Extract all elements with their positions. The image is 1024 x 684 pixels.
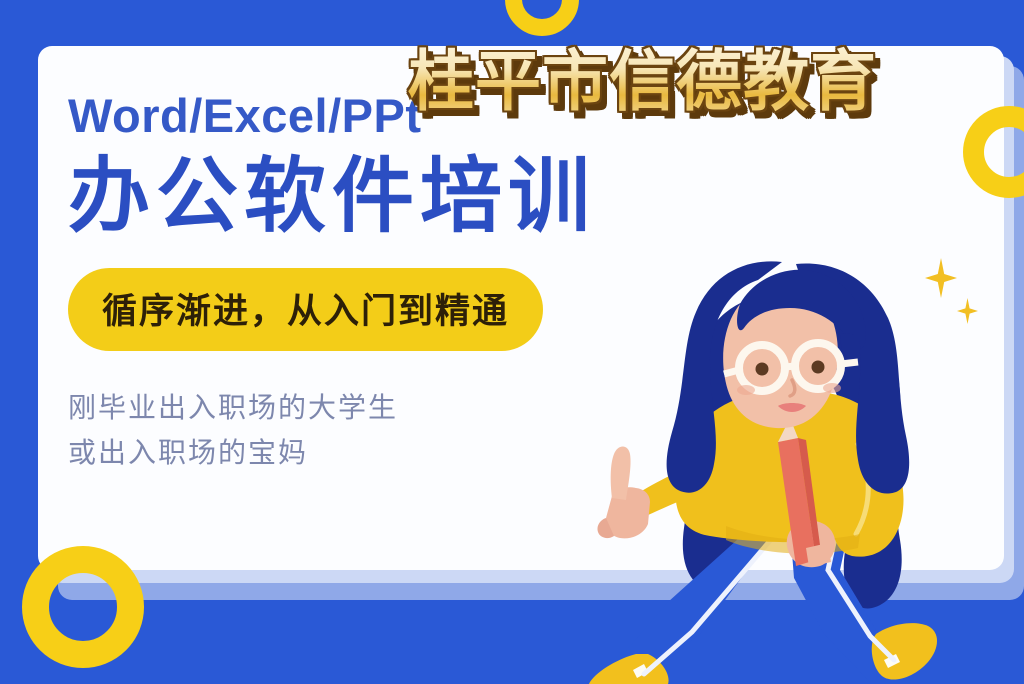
- promo-poster: 桂平市信德教育 Word/Excel/PPt 办公软件培训 循序渐进，从入门到精…: [0, 0, 1024, 684]
- cheek-blush-left: [737, 385, 755, 395]
- glasses-temple-left: [724, 370, 739, 374]
- eye-right: [812, 361, 825, 374]
- eye-left: [756, 363, 769, 376]
- tagline-badge: 循序渐进，从入门到精通: [68, 268, 543, 351]
- shoe-right: [872, 623, 937, 679]
- ring-decoration-bottom: [22, 546, 144, 668]
- woman-pointing-illustration: [540, 230, 1024, 684]
- watermark-brand: 桂平市信德教育: [408, 28, 877, 124]
- page-title: 办公软件培训: [68, 153, 728, 242]
- cheek-blush-right: [823, 383, 841, 393]
- glasses-temple-right: [841, 362, 858, 364]
- glasses-bridge: [785, 366, 795, 367]
